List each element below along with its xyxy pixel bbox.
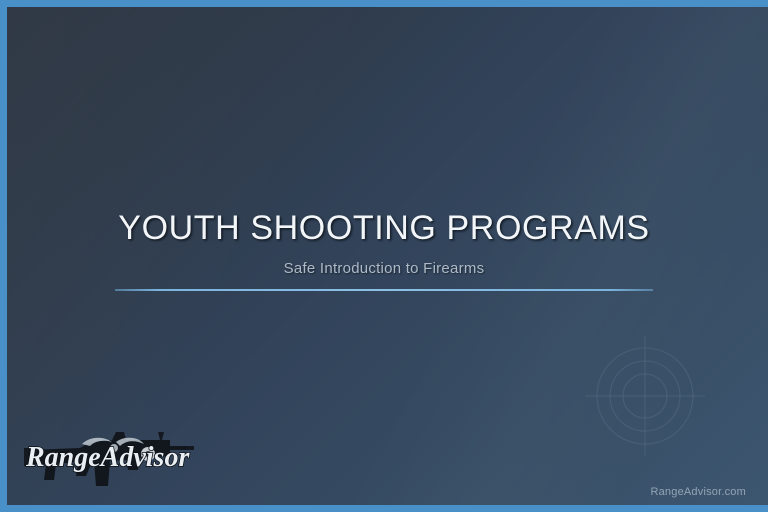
footer-url: RangeAdvisor.com xyxy=(650,486,746,498)
frame-border-top xyxy=(0,0,768,7)
page-title: YOUTH SHOOTING PROGRAMS xyxy=(0,206,768,250)
frame-border-left xyxy=(0,0,7,512)
frame-border-right-bottom-stub xyxy=(760,505,768,512)
frame-border-bottom xyxy=(0,505,768,512)
crosshair-target-icon xyxy=(583,334,707,458)
frame-border-right-top-stub xyxy=(760,0,768,7)
brand-logo: RangeAdvisor xyxy=(20,424,198,498)
presentation-slide: YOUTH SHOOTING PROGRAMS Safe Introductio… xyxy=(0,0,768,512)
accent-divider xyxy=(115,289,653,291)
page-subtitle: Safe Introduction to Firearms xyxy=(0,259,768,279)
logo-wordmark: RangeAdvisor xyxy=(25,442,190,473)
rifle-icon: RangeAdvisor xyxy=(24,432,194,486)
title-block: YOUTH SHOOTING PROGRAMS Safe Introductio… xyxy=(0,206,768,279)
